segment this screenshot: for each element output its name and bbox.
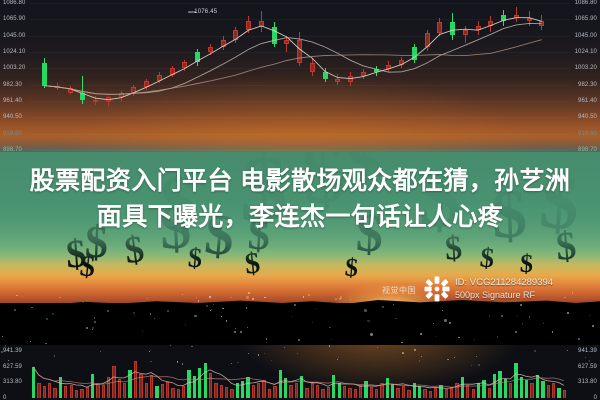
light-speck — [198, 300, 200, 302]
light-speck — [133, 312, 134, 313]
light-speck — [552, 331, 553, 332]
light-speck — [31, 307, 33, 309]
star-speck — [337, 359, 338, 360]
light-speck — [22, 296, 23, 297]
star-speck — [402, 352, 404, 354]
candlestick-chart-panel: 1086.801065.901045.001024.101003.20982.3… — [0, 0, 600, 152]
light-speck — [331, 339, 333, 341]
light-speck — [2, 336, 3, 337]
sunset-photo-band: $$$$$$$$$$$$$$$$$$$$$$$ — [0, 152, 600, 345]
y-axis-label-left: 982.30 — [3, 82, 22, 88]
y-axis-label-right: 1024.10 — [575, 49, 597, 55]
light-speck — [266, 338, 268, 340]
y-axis-label-right: 1045.00 — [575, 33, 597, 39]
light-speck — [474, 339, 475, 340]
star-speck — [297, 353, 298, 354]
star-speck — [177, 361, 178, 362]
star-speck — [377, 347, 378, 348]
y-axis-label-left: 961.40 — [3, 98, 22, 104]
light-speck — [182, 294, 183, 295]
volume-y-label-right: 313.80 — [578, 379, 597, 385]
y-axis-label-right: 1003.20 — [575, 65, 597, 71]
light-speck — [16, 295, 17, 296]
y-axis-label-left: 940.50 — [3, 114, 22, 120]
star-speck — [454, 357, 455, 358]
light-speck — [329, 327, 330, 328]
light-speck — [209, 296, 210, 297]
light-speck — [589, 315, 590, 316]
light-speck — [316, 308, 317, 309]
light-speck — [30, 341, 31, 342]
light-speck — [248, 292, 250, 294]
light-speck — [382, 306, 384, 308]
watermark-text: ID: VCG211284289394 500px Signature RF — [455, 277, 553, 301]
light-speck — [436, 336, 437, 337]
light-speck — [370, 333, 372, 335]
light-speck — [246, 307, 248, 309]
light-speck — [501, 315, 503, 317]
y-axis-label-right: 982.30 — [578, 82, 597, 88]
light-speck — [14, 309, 16, 311]
moving-average-lines — [0, 0, 600, 152]
y-axis-label-right: 961.40 — [578, 98, 597, 104]
light-speck — [572, 292, 573, 293]
light-speck — [45, 343, 47, 345]
light-speck — [303, 296, 305, 298]
light-speck — [221, 316, 222, 317]
light-speck — [94, 317, 96, 319]
light-speck — [308, 294, 311, 297]
volume-chart-panel: 941.39627.59313.800 941.39627.59313.800 — [0, 345, 600, 400]
star-speck — [8, 360, 9, 361]
light-speck — [312, 322, 313, 323]
light-speck — [196, 297, 197, 298]
light-speck — [235, 328, 236, 329]
y-axis-label-right: 940.50 — [578, 114, 597, 120]
light-speck — [226, 320, 228, 322]
light-speck — [529, 316, 530, 317]
light-speck — [154, 318, 155, 319]
light-speck — [52, 313, 54, 315]
light-speck — [150, 313, 152, 315]
y-axis-label-right: 919.60 — [578, 131, 597, 137]
light-speck — [449, 322, 451, 324]
light-speck — [86, 300, 87, 301]
light-speck — [194, 315, 197, 318]
y-axis-label-right: 1086.80 — [575, 0, 597, 6]
image-canvas: 1086.801065.901045.001024.101003.20982.3… — [0, 0, 600, 400]
star-speck — [191, 346, 193, 348]
star-speck — [284, 347, 285, 348]
light-speck — [515, 331, 517, 333]
light-speck — [395, 318, 397, 320]
y-axis-label-left: 1086.80 — [3, 0, 25, 6]
light-speck — [291, 316, 292, 317]
light-speck — [247, 327, 248, 328]
volume-y-label-right: 627.59 — [578, 364, 597, 370]
light-speck — [520, 304, 522, 306]
volume-y-label-right: 0 — [594, 395, 597, 400]
light-speck — [210, 310, 211, 311]
light-speck — [489, 316, 490, 317]
light-speck — [240, 331, 242, 333]
light-speck — [134, 315, 135, 316]
y-axis-label-left: 1065.90 — [3, 16, 25, 22]
light-speck — [234, 331, 236, 333]
light-speck — [567, 312, 569, 314]
y-axis-label-left: 1003.20 — [3, 65, 25, 71]
light-speck — [222, 308, 224, 310]
star-speck — [471, 365, 472, 366]
volume-average-line — [0, 345, 600, 400]
volume-y-label-right: 941.39 — [578, 348, 597, 354]
y-axis-label-left: 1024.10 — [3, 49, 25, 55]
light-speck — [185, 324, 186, 325]
star-speck — [5, 345, 7, 347]
light-speck — [211, 309, 212, 310]
light-speck — [393, 304, 394, 305]
light-speck — [401, 342, 403, 344]
light-speck — [147, 298, 148, 299]
light-speck — [59, 297, 61, 299]
light-speck — [442, 310, 444, 312]
star-speck — [478, 364, 480, 366]
light-speck — [497, 336, 499, 338]
light-speck — [142, 331, 143, 332]
light-speck — [294, 304, 296, 306]
light-speck — [213, 304, 214, 305]
starburst-icon-svg — [424, 276, 450, 302]
light-speck — [230, 297, 232, 299]
light-speck — [517, 315, 519, 317]
moving-average-line — [45, 40, 542, 95]
light-speck — [350, 299, 351, 300]
light-speck — [206, 305, 208, 307]
light-speck — [86, 327, 88, 329]
y-axis-label-right: 1065.90 — [575, 16, 597, 22]
light-speck — [564, 297, 566, 299]
light-speck — [543, 323, 544, 324]
y-axis-label-left: 1045.00 — [3, 33, 25, 39]
light-speck — [266, 342, 267, 343]
star-speck — [264, 353, 265, 354]
volume-y-label-left: 313.80 — [3, 379, 22, 385]
price-annotation: ←1076.45 — [188, 9, 217, 15]
light-speck — [578, 338, 580, 340]
light-speck — [94, 321, 96, 323]
star-speck — [585, 357, 586, 358]
light-speck — [335, 298, 337, 300]
watermark: 视觉中国 ID: VCG211284289394 500px Signature… — [424, 276, 553, 302]
moving-average-line — [45, 18, 542, 100]
light-speck — [298, 339, 300, 341]
watermark-brand-cn: 视觉中国 — [382, 285, 416, 296]
light-speck — [339, 298, 341, 300]
star-speck — [329, 345, 330, 346]
light-speck — [246, 296, 248, 298]
light-speck — [364, 309, 367, 312]
light-speck — [522, 323, 524, 325]
light-speck — [433, 323, 434, 324]
light-speck — [46, 318, 48, 320]
light-speck — [420, 333, 422, 335]
star-speck — [534, 350, 536, 352]
volume-y-label-left: 627.59 — [3, 364, 22, 370]
light-speck — [82, 301, 84, 303]
light-speck — [264, 297, 266, 299]
star-speck — [150, 361, 151, 362]
volume-y-label-left: 941.39 — [3, 348, 22, 354]
light-speck — [592, 325, 594, 327]
watermark-id: ID: VCG211284289394 — [455, 277, 553, 289]
light-speck — [458, 337, 459, 338]
star-speck — [150, 350, 151, 351]
light-speck — [444, 319, 446, 321]
volume-y-label-left: 0 — [3, 395, 6, 400]
star-speck — [414, 349, 416, 351]
y-axis-label-left: 919.60 — [3, 131, 22, 137]
watermark-license: 500px Signature RF — [455, 289, 553, 301]
light-speck — [167, 310, 169, 312]
light-speck — [92, 327, 94, 329]
star-speck — [271, 360, 272, 361]
star-speck — [100, 351, 101, 352]
light-speck — [107, 310, 109, 312]
light-speck — [367, 320, 369, 322]
light-speck — [252, 298, 254, 300]
green-caption-wash — [0, 152, 600, 264]
starburst-icon — [424, 276, 450, 302]
